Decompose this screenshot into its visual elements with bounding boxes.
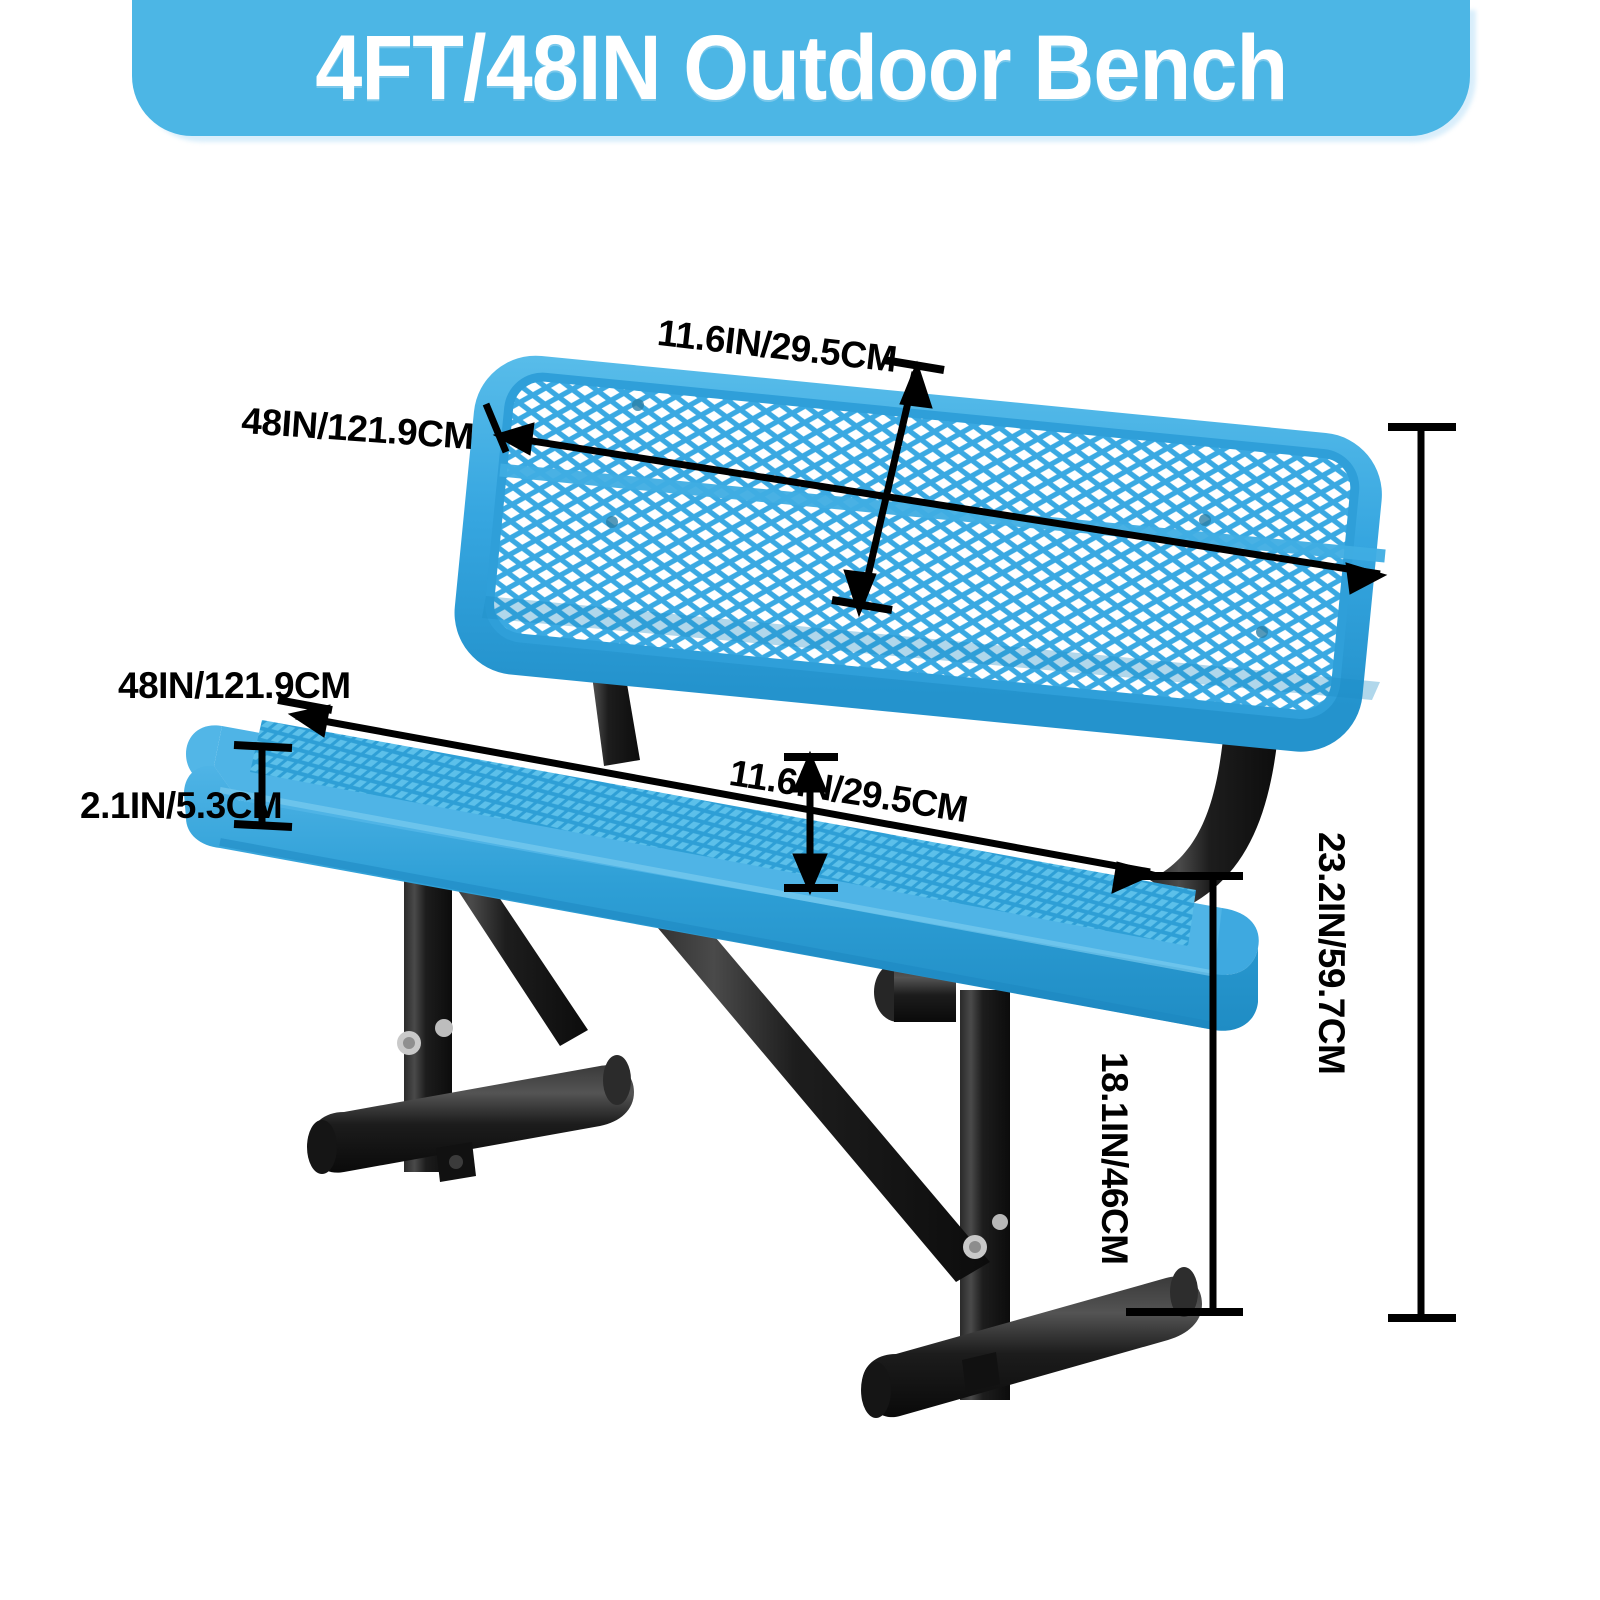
dimension-label-seat-thickness: 2.1IN/5.3CM: [80, 785, 282, 827]
dimension-label-overall-height: 23.2IN/59.7CM: [1310, 832, 1352, 1074]
dimension-label-seat-height: 18.1IN/46CM: [1093, 1052, 1135, 1265]
dimension-line-overall-height: [1388, 425, 1456, 1320]
dimension-label-seat-width: 48IN/121.9CM: [118, 665, 351, 707]
foot-right: [861, 1267, 1202, 1418]
backrest-panel: [440, 330, 1440, 757]
